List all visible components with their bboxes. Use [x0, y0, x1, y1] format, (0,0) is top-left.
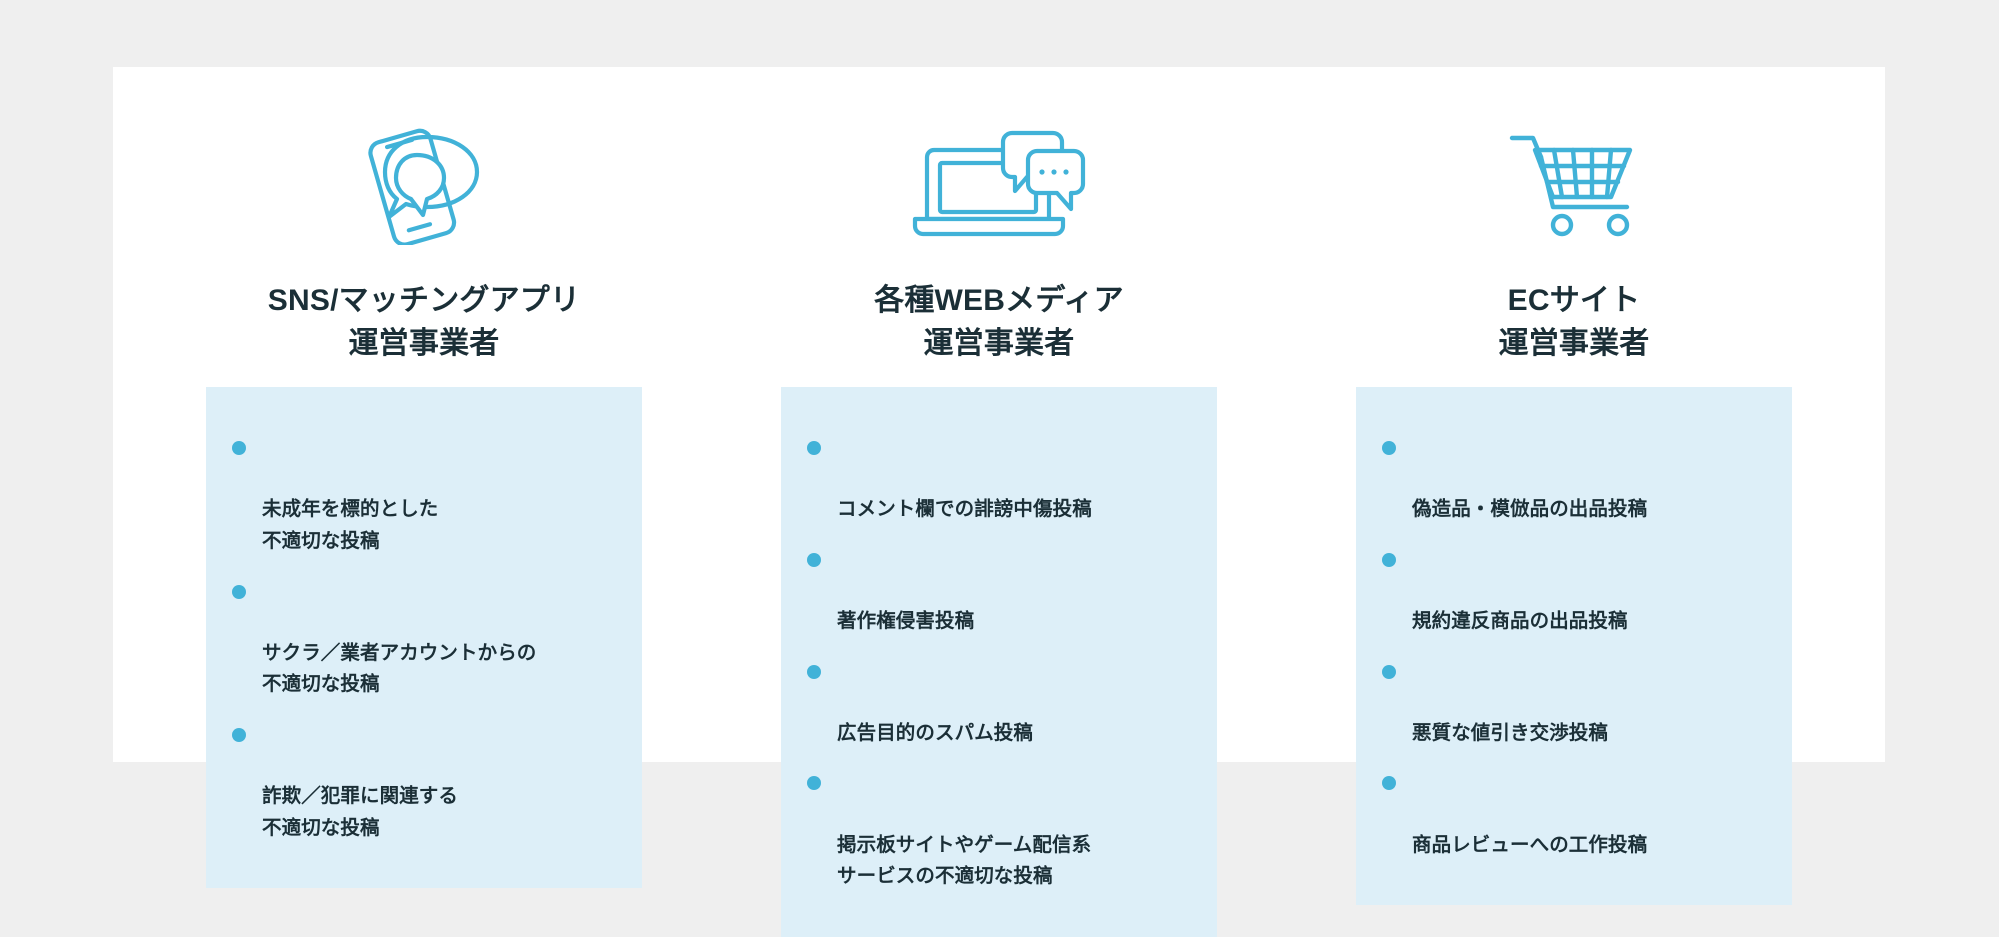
list-item-label: 規約違反商品の出品投稿 — [1412, 610, 1628, 632]
issue-list-box: コメント欄での誹謗中傷投稿 著作権侵害投稿 広告目的のスパム投稿 掲示板サイトや… — [781, 387, 1217, 937]
list-item: 詐欺／犯罪に関連する 不適切な投稿 — [262, 718, 624, 844]
bullet-dot-icon — [232, 585, 246, 599]
issue-list-box: 未成年を標的とした 不適切な投稿 サクラ／業者アカウントからの 不適切な投稿 詐… — [206, 387, 642, 888]
list-item: 偽造品・模倣品の出品投稿 — [1412, 431, 1774, 526]
card-web-media: 各種WEBメディア 運営事業者 コメント欄での誹謗中傷投稿 著作権侵害投稿 広告… — [781, 110, 1217, 937]
laptop-chat-icon — [781, 110, 1217, 260]
content-panel: SNS/マッチングアプリ 運営事業者 未成年を標的とした 不適切な投稿 サクラ／… — [113, 67, 1885, 762]
list-item-label: 悪質な値引き交渉投稿 — [1412, 722, 1608, 744]
smartphone-chat-icon — [206, 110, 642, 260]
list-item: 広告目的のスパム投稿 — [837, 655, 1199, 750]
list-item-label: 未成年を標的とした 不適切な投稿 — [262, 498, 438, 552]
bullet-dot-icon — [807, 665, 821, 679]
issue-list-box: 偽造品・模倣品の出品投稿 規約違反商品の出品投稿 悪質な値引き交渉投稿 商品レビ… — [1356, 387, 1792, 905]
bullet-dot-icon — [232, 728, 246, 742]
card-title: ECサイト 運営事業者 — [1499, 280, 1650, 365]
list-item: 未成年を標的とした 不適切な投稿 — [262, 431, 624, 557]
card-sns-matching-app: SNS/マッチングアプリ 運営事業者 未成年を標的とした 不適切な投稿 サクラ／… — [206, 110, 642, 888]
bullet-dot-icon — [1382, 441, 1396, 455]
bullet-dot-icon — [1382, 553, 1396, 567]
card-ec-site: ECサイト 運営事業者 偽造品・模倣品の出品投稿 規約違反商品の出品投稿 悪質な… — [1356, 110, 1792, 905]
list-item-label: 偽造品・模倣品の出品投稿 — [1412, 498, 1647, 520]
issue-list: 未成年を標的とした 不適切な投稿 サクラ／業者アカウントからの 不適切な投稿 詐… — [206, 431, 642, 844]
list-item: 商品レビューへの工作投稿 — [1412, 766, 1774, 861]
list-item: 悪質な値引き交渉投稿 — [1412, 655, 1774, 750]
shopping-cart-icon — [1356, 110, 1792, 260]
list-item: 規約違反商品の出品投稿 — [1412, 543, 1774, 638]
issue-list: コメント欄での誹謗中傷投稿 著作権侵害投稿 広告目的のスパム投稿 掲示板サイトや… — [781, 431, 1217, 893]
list-item-label: 掲示板サイトやゲーム配信系 サービスの不適切な投稿 — [837, 834, 1091, 888]
card-title: 各種WEBメディア 運営事業者 — [874, 280, 1124, 365]
list-item-label: コメント欄での誹謗中傷投稿 — [837, 498, 1092, 520]
bullet-dot-icon — [1382, 665, 1396, 679]
bullet-dot-icon — [807, 441, 821, 455]
list-item-label: 広告目的のスパム投稿 — [837, 722, 1033, 744]
card-title: SNS/マッチングアプリ 運営事業者 — [268, 280, 580, 365]
bullet-dot-icon — [232, 441, 246, 455]
list-item: 掲示板サイトやゲーム配信系 サービスの不適切な投稿 — [837, 766, 1199, 892]
cards-container: SNS/マッチングアプリ 運営事業者 未成年を標的とした 不適切な投稿 サクラ／… — [113, 67, 1885, 762]
bullet-dot-icon — [807, 776, 821, 790]
list-item: 著作権侵害投稿 — [837, 543, 1199, 638]
list-item-label: サクラ／業者アカウントからの 不適切な投稿 — [262, 642, 536, 696]
list-item: サクラ／業者アカウントからの 不適切な投稿 — [262, 575, 624, 701]
list-item-label: 著作権侵害投稿 — [837, 610, 974, 632]
issue-list: 偽造品・模倣品の出品投稿 規約違反商品の出品投稿 悪質な値引き交渉投稿 商品レビ… — [1356, 431, 1792, 861]
list-item-label: 商品レビューへの工作投稿 — [1412, 834, 1647, 856]
list-item-label: 詐欺／犯罪に関連する 不適切な投稿 — [262, 785, 458, 839]
list-item: コメント欄での誹謗中傷投稿 — [837, 431, 1199, 526]
bullet-dot-icon — [1382, 776, 1396, 790]
bullet-dot-icon — [807, 553, 821, 567]
